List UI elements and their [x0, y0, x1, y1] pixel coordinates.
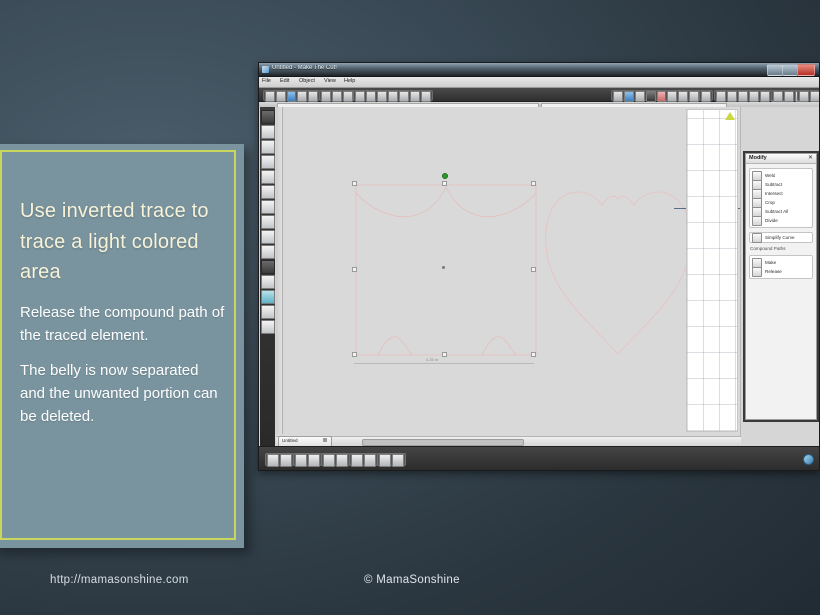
compound-paths-section-label: Compound Paths: [750, 246, 816, 251]
modify-op-divide[interactable]: Divide: [752, 216, 810, 225]
dimension-line: [354, 363, 534, 364]
tool-rectangle-tool[interactable]: [261, 140, 275, 154]
window-close-button[interactable]: [797, 64, 815, 76]
export-icon[interactable]: [308, 91, 318, 102]
redo-icon[interactable]: [332, 91, 342, 102]
toolbar-group-file[interactable]: [263, 90, 299, 101]
window-title: Untitled - Make The Cut!: [272, 65, 337, 71]
weld-icon[interactable]: [716, 91, 726, 102]
handle-sw[interactable]: [352, 352, 357, 357]
toolbar-group-mirror[interactable]: [797, 90, 820, 101]
close-icon[interactable]: [323, 438, 327, 442]
tool-pan-tool[interactable]: [261, 290, 275, 304]
tool-freehand-tool[interactable]: [261, 200, 275, 214]
align-node-icon[interactable]: [323, 454, 335, 467]
crop-icon[interactable]: [738, 91, 748, 102]
compound-make-label: Make: [765, 260, 776, 265]
menu-item-help[interactable]: Help: [344, 78, 355, 84]
tool-node-edit-tool[interactable]: [261, 125, 275, 139]
align-center-icon[interactable]: [624, 91, 634, 102]
zoom-in-icon[interactable]: [377, 91, 387, 102]
transform-origin-marker[interactable]: [442, 266, 445, 269]
line-node-icon[interactable]: [364, 454, 376, 467]
main-toolbar[interactable]: [259, 88, 819, 102]
modify-panel: Modify ✕ Weld Subtract: [745, 153, 817, 420]
tool-text-tool[interactable]: [261, 215, 275, 229]
application-window: Untitled - Make The Cut! File Edit Objec…: [258, 62, 820, 471]
dimension-label: 4.25 in: [426, 357, 438, 362]
modify-operations-group: Weld Subtract Intersect Crop: [749, 168, 813, 228]
callout-paragraph-1: Release the compound path of the traced …: [20, 302, 226, 348]
app-logo-icon: [262, 66, 269, 73]
handle-s[interactable]: [442, 352, 447, 357]
callout-panel: Use inverted trace to trace a light colo…: [0, 144, 244, 548]
document-tab-label: Untitled: [282, 438, 298, 443]
tool-pen-tool[interactable]: [261, 185, 275, 199]
fit-page-icon[interactable]: [410, 91, 420, 102]
copy-icon[interactable]: [355, 91, 365, 102]
selection-bounding-box[interactable]: [354, 183, 534, 355]
align-left-icon[interactable]: [613, 91, 623, 102]
open-document-icon[interactable]: [276, 91, 286, 102]
close-icon[interactable]: ✕: [808, 155, 813, 161]
document-tab[interactable]: Untitled: [278, 436, 332, 446]
menu-item-view[interactable]: View: [324, 78, 336, 84]
new-document-icon[interactable]: [265, 91, 275, 102]
document-tab-bar[interactable]: Untitled: [276, 436, 741, 446]
toolbar-group-distribute[interactable]: [665, 90, 701, 101]
compound-paths-group: Make Release: [749, 255, 813, 279]
toolbar-group-view[interactable]: [375, 90, 433, 101]
handle-n[interactable]: [442, 181, 447, 186]
work-area: 4.25 in Modify: [259, 107, 819, 446]
design-canvas[interactable]: 4.25 in: [276, 107, 741, 446]
handle-e[interactable]: [531, 267, 536, 272]
mat-origin-marker: [725, 112, 735, 120]
node-delete-icon[interactable]: [308, 454, 320, 467]
modify-op-crop-label: Crop: [765, 200, 775, 205]
subtract-icon[interactable]: [727, 91, 737, 102]
trace-icon[interactable]: [760, 91, 770, 102]
modify-op-weld[interactable]: Weld: [752, 171, 810, 180]
tool-fill-tool[interactable]: [261, 305, 275, 319]
flip-horizontal-icon[interactable]: [799, 91, 809, 102]
distribute-vertical-icon[interactable]: [678, 91, 688, 102]
tool-ellipse-tool[interactable]: [261, 155, 275, 169]
toolbar-group-transfer[interactable]: [295, 90, 320, 101]
right-dock: Modify ✕ Weld Subtract: [743, 151, 819, 422]
node-add-icon[interactable]: [295, 454, 307, 467]
handle-ne[interactable]: [531, 181, 536, 186]
window-maximize-button[interactable]: [782, 64, 798, 76]
footer-copyright: © MamaSonshine: [364, 574, 460, 586]
break-node-icon[interactable]: [336, 454, 348, 467]
vertical-ruler: [276, 107, 283, 434]
distribute-even-icon[interactable]: [689, 91, 699, 102]
rotate-icon[interactable]: [701, 91, 711, 102]
modify-panel-header[interactable]: Modify ✕: [746, 154, 816, 164]
status-bar[interactable]: [259, 446, 819, 470]
tool-stroke-tool[interactable]: [261, 320, 275, 334]
footer-website-url[interactable]: http://mamasonshine.com: [50, 574, 189, 586]
tool-eyedropper-tool[interactable]: [261, 230, 275, 244]
release-icon: [752, 267, 762, 277]
handle-se[interactable]: [531, 352, 536, 357]
rotation-handle[interactable]: [442, 173, 448, 179]
simplify-icon: [752, 233, 762, 243]
compound-make-button[interactable]: Make: [752, 258, 810, 267]
menu-bar[interactable]: File Edit Object View Help: [259, 77, 819, 88]
status-group-color[interactable]: [265, 453, 294, 466]
status-group-node-align[interactable]: [321, 453, 350, 466]
tool-zoom-tool[interactable]: [261, 275, 275, 289]
align-top-icon[interactable]: [646, 91, 656, 102]
import-icon[interactable]: [297, 91, 307, 102]
modify-op-subtract[interactable]: Subtract: [752, 180, 810, 189]
tool-knife-tool[interactable]: [261, 245, 275, 259]
callout-text-block: Use inverted trace to trace a light colo…: [20, 196, 226, 442]
status-group-node-smooth[interactable]: [377, 453, 406, 466]
modify-op-intersect-label: Intersect: [765, 191, 783, 196]
distribute-horizontal-icon[interactable]: [667, 91, 677, 102]
status-group-node-edit[interactable]: [293, 453, 322, 466]
fill-color-icon[interactable]: [267, 454, 279, 467]
status-group-node-type[interactable]: [349, 453, 378, 466]
toolbar-group-align[interactable]: [611, 90, 669, 101]
tool-polygon-tool[interactable]: [261, 170, 275, 184]
group-icon[interactable]: [773, 91, 783, 102]
curve-node-icon[interactable]: [351, 454, 363, 467]
tool-select-tool[interactable]: [261, 110, 275, 124]
canvas-vertical-scrollbar[interactable]: [740, 107, 741, 446]
cut-icon[interactable]: [343, 91, 353, 102]
modify-op-crop[interactable]: Crop: [752, 198, 810, 207]
heart-shape[interactable]: [538, 179, 698, 359]
align-right-icon[interactable]: [635, 91, 645, 102]
help-icon[interactable]: [803, 454, 814, 465]
pan-icon[interactable]: [399, 91, 409, 102]
window-titlebar[interactable]: Untitled - Make The Cut!: [259, 63, 819, 77]
smooth-node-icon[interactable]: [379, 454, 391, 467]
simplify-curve-label: Simplify Curve: [765, 235, 795, 240]
modify-op-intersect[interactable]: Intersect: [752, 189, 810, 198]
menu-item-object[interactable]: Object: [299, 78, 315, 84]
callout-paragraph-2: The belly is now separated and the unwan…: [20, 360, 226, 428]
menu-item-edit[interactable]: Edit: [280, 78, 289, 84]
cusp-node-icon[interactable]: [392, 454, 404, 467]
undo-icon[interactable]: [321, 91, 331, 102]
modify-panel-title: Modify: [749, 155, 767, 161]
line-color-icon[interactable]: [280, 454, 292, 467]
modify-op-subtract-all-label: Subtract All: [765, 209, 788, 214]
compound-release-button[interactable]: Release: [752, 267, 810, 276]
callout-headline: Use inverted trace to trace a light colo…: [20, 196, 226, 288]
menu-item-file[interactable]: File: [262, 78, 271, 84]
tool-palette[interactable]: [260, 107, 275, 446]
simplify-curve-button[interactable]: Simplify Curve: [749, 232, 813, 243]
divide-icon: [752, 216, 762, 226]
handle-nw[interactable]: [352, 181, 357, 186]
compound-release-label: Release: [765, 269, 782, 274]
tool-measure-tool[interactable]: [261, 260, 275, 274]
window-minimize-button[interactable]: [767, 64, 783, 76]
divide-icon[interactable]: [749, 91, 759, 102]
presentation-slide: Use inverted trace to trace a light colo…: [0, 0, 820, 615]
toolbar-group-edit[interactable]: [319, 90, 355, 101]
handle-w[interactable]: [352, 267, 357, 272]
flip-vertical-icon[interactable]: [810, 91, 820, 102]
modify-op-subtract-label: Subtract: [765, 182, 782, 187]
toolbar-group-rotate[interactable]: [699, 90, 713, 101]
grid-toggle-icon[interactable]: [421, 91, 431, 102]
zoom-out-icon[interactable]: [388, 91, 398, 102]
modify-op-subtract-all[interactable]: Subtract All: [752, 207, 810, 216]
modify-op-weld-label: Weld: [765, 173, 775, 178]
modify-op-divide-label: Divide: [765, 218, 778, 223]
ungroup-icon[interactable]: [784, 91, 794, 102]
cutting-mat-grid[interactable]: [686, 109, 738, 432]
